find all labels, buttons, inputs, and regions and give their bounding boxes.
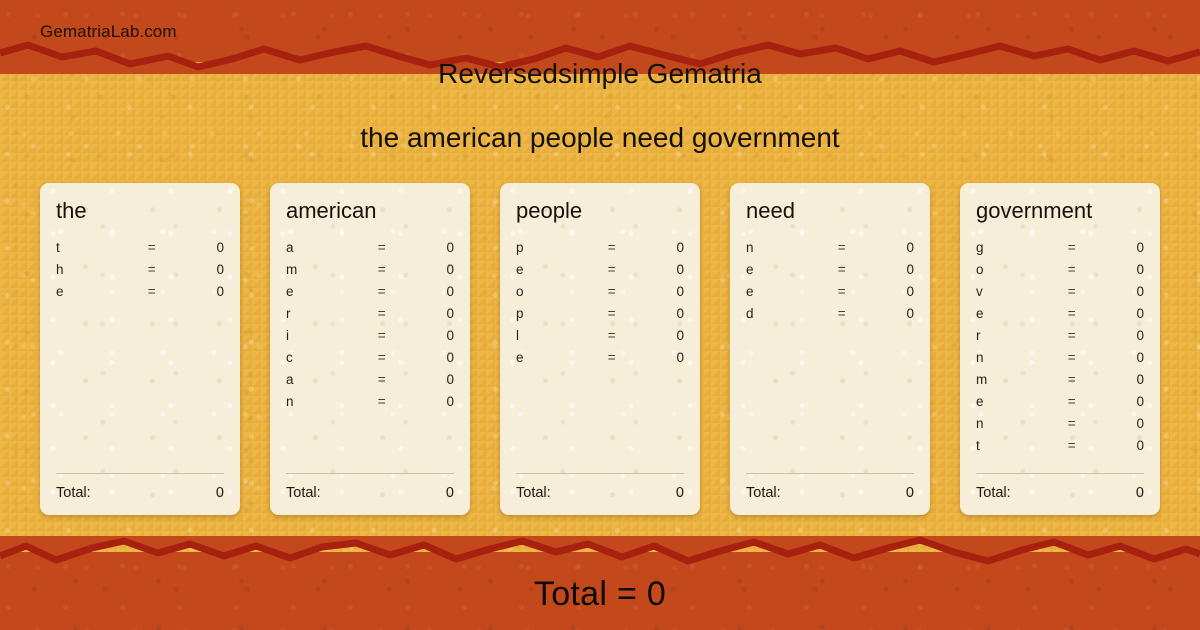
equals-sign: = <box>360 350 404 365</box>
letter-value: 0 <box>404 350 454 365</box>
letter-value: 0 <box>404 240 454 255</box>
letter-row: n = 0 <box>976 350 1144 372</box>
equals-sign: = <box>360 394 404 409</box>
letter-value: 0 <box>1094 328 1144 343</box>
letter-row: a = 0 <box>286 240 454 262</box>
input-phrase: the american people need government <box>0 122 1200 154</box>
letter-value: 0 <box>634 262 684 277</box>
letter-row: o = 0 <box>976 262 1144 284</box>
equals-sign: = <box>360 306 404 321</box>
letter-value: 0 <box>634 240 684 255</box>
word-total-value: 0 <box>1136 485 1144 501</box>
letter-value: 0 <box>864 262 914 277</box>
page-title: Reversedsimple Gematria <box>0 58 1200 90</box>
letter: a <box>286 372 360 387</box>
letter-row: n = 0 <box>286 394 454 416</box>
word-total-label: Total: <box>746 485 781 501</box>
word-cards-row: the t = 0 h = 0 e = 0 <box>40 183 1160 515</box>
letter-value: 0 <box>404 394 454 409</box>
letter-value: 0 <box>174 240 224 255</box>
letter-row: l = 0 <box>516 328 684 350</box>
word-total-row: Total: 0 <box>516 485 684 501</box>
letter-value: 0 <box>1094 416 1144 431</box>
divider <box>746 473 914 474</box>
equals-sign: = <box>130 262 174 277</box>
letter: r <box>286 306 360 321</box>
letter: h <box>56 262 130 277</box>
letter-value: 0 <box>634 328 684 343</box>
word-card-footer: Total: 0 <box>976 473 1144 515</box>
equals-sign: = <box>1050 328 1094 343</box>
letter: p <box>516 306 590 321</box>
letter: v <box>976 284 1050 299</box>
word-total-label: Total: <box>516 485 551 501</box>
equals-sign: = <box>130 240 174 255</box>
equals-sign: = <box>590 306 634 321</box>
letter-value: 0 <box>634 350 684 365</box>
letter-value: 0 <box>174 284 224 299</box>
word-card-title: people <box>516 199 684 223</box>
letter: d <box>746 306 820 321</box>
letter: t <box>56 240 130 255</box>
letter: e <box>746 262 820 277</box>
letter-row: r = 0 <box>976 328 1144 350</box>
letter: o <box>976 262 1050 277</box>
equals-sign: = <box>590 350 634 365</box>
equals-sign: = <box>130 284 174 299</box>
equals-sign: = <box>1050 394 1094 409</box>
word-card: government g = 0 o = 0 v = 0 e <box>960 183 1160 515</box>
letter-row: e = 0 <box>746 284 914 306</box>
letter-row: t = 0 <box>56 240 224 262</box>
letter: n <box>286 394 360 409</box>
letter-value: 0 <box>634 306 684 321</box>
letter: g <box>976 240 1050 255</box>
word-total-row: Total: 0 <box>976 485 1144 501</box>
letter-row: h = 0 <box>56 262 224 284</box>
letter-row: e = 0 <box>516 262 684 284</box>
letter: m <box>976 372 1050 387</box>
letter-value: 0 <box>634 284 684 299</box>
letter-value-list: g = 0 o = 0 v = 0 e = 0 <box>976 240 1144 473</box>
letter: n <box>976 416 1050 431</box>
letter-value: 0 <box>1094 438 1144 453</box>
word-total-label: Total: <box>286 485 321 501</box>
word-card: american a = 0 m = 0 e = 0 r <box>270 183 470 515</box>
divider <box>56 473 224 474</box>
equals-sign: = <box>1050 438 1094 453</box>
word-card: people p = 0 e = 0 o = 0 p <box>500 183 700 515</box>
word-card-title: need <box>746 199 914 223</box>
letter-value: 0 <box>404 262 454 277</box>
letter-row: n = 0 <box>976 416 1144 438</box>
letter-row: p = 0 <box>516 240 684 262</box>
equals-sign: = <box>820 284 864 299</box>
letter-row: t = 0 <box>976 438 1144 460</box>
equals-sign: = <box>590 240 634 255</box>
letter: e <box>56 284 130 299</box>
letter-value: 0 <box>864 284 914 299</box>
letter-value: 0 <box>404 328 454 343</box>
word-card-footer: Total: 0 <box>56 473 224 515</box>
word-card-title: the <box>56 199 224 223</box>
letter-value: 0 <box>174 262 224 277</box>
equals-sign: = <box>820 306 864 321</box>
word-total-label: Total: <box>976 485 1011 501</box>
letter: t <box>976 438 1050 453</box>
equals-sign: = <box>360 262 404 277</box>
divider <box>286 473 454 474</box>
word-card-title: government <box>976 199 1144 223</box>
word-total-value: 0 <box>216 485 224 501</box>
equals-sign: = <box>1050 284 1094 299</box>
letter-row: m = 0 <box>976 372 1144 394</box>
divider <box>516 473 684 474</box>
equals-sign: = <box>1050 306 1094 321</box>
letter: m <box>286 262 360 277</box>
equals-sign: = <box>820 240 864 255</box>
word-total-value: 0 <box>906 485 914 501</box>
word-card-footer: Total: 0 <box>746 473 914 515</box>
letter-value: 0 <box>1094 350 1144 365</box>
word-total-row: Total: 0 <box>746 485 914 501</box>
word-total-value: 0 <box>676 485 684 501</box>
letter-value-list: t = 0 h = 0 e = 0 <box>56 240 224 473</box>
letter-value-list: p = 0 e = 0 o = 0 p = 0 <box>516 240 684 473</box>
letter-value: 0 <box>1094 284 1144 299</box>
letter-row: e = 0 <box>976 394 1144 416</box>
letter-row: c = 0 <box>286 350 454 372</box>
equals-sign: = <box>1050 350 1094 365</box>
letter: e <box>516 262 590 277</box>
word-card-title: american <box>286 199 454 223</box>
letter-value: 0 <box>864 240 914 255</box>
letter: e <box>976 306 1050 321</box>
equals-sign: = <box>1050 262 1094 277</box>
letter-row: e = 0 <box>286 284 454 306</box>
letter: e <box>976 394 1050 409</box>
word-card-footer: Total: 0 <box>516 473 684 515</box>
equals-sign: = <box>590 328 634 343</box>
letter-value: 0 <box>1094 262 1144 277</box>
letter-row: e = 0 <box>56 284 224 306</box>
letter-value-list: n = 0 e = 0 e = 0 d = 0 <box>746 240 914 473</box>
letter-row: o = 0 <box>516 284 684 306</box>
divider <box>976 473 1144 474</box>
letter-row: i = 0 <box>286 328 454 350</box>
equals-sign: = <box>1050 240 1094 255</box>
equals-sign: = <box>1050 416 1094 431</box>
letter: l <box>516 328 590 343</box>
word-total-value: 0 <box>446 485 454 501</box>
letter: n <box>976 350 1050 365</box>
letter-row: p = 0 <box>516 306 684 328</box>
letter-row: g = 0 <box>976 240 1144 262</box>
letter-value: 0 <box>1094 306 1144 321</box>
equals-sign: = <box>360 328 404 343</box>
equals-sign: = <box>820 262 864 277</box>
letter: i <box>286 328 360 343</box>
letter-value: 0 <box>404 306 454 321</box>
word-card: need n = 0 e = 0 e = 0 d <box>730 183 930 515</box>
letter: o <box>516 284 590 299</box>
letter: a <box>286 240 360 255</box>
letter-value-list: a = 0 m = 0 e = 0 r = 0 <box>286 240 454 473</box>
equals-sign: = <box>360 372 404 387</box>
equals-sign: = <box>360 240 404 255</box>
word-total-row: Total: 0 <box>286 485 454 501</box>
grand-total: Total = 0 <box>0 575 1200 614</box>
letter-row: e = 0 <box>976 306 1144 328</box>
letter-row: e = 0 <box>746 262 914 284</box>
letter: n <box>746 240 820 255</box>
letter: c <box>286 350 360 365</box>
equals-sign: = <box>360 284 404 299</box>
letter-row: n = 0 <box>746 240 914 262</box>
letter-value: 0 <box>1094 372 1144 387</box>
letter: r <box>976 328 1050 343</box>
equals-sign: = <box>590 284 634 299</box>
bottom-wave-divider <box>0 536 1200 570</box>
letter-row: d = 0 <box>746 306 914 328</box>
equals-sign: = <box>1050 372 1094 387</box>
word-total-label: Total: <box>56 485 91 501</box>
letter-row: e = 0 <box>516 350 684 372</box>
letter: e <box>746 284 820 299</box>
gematria-result-canvas: GematriaLab.com Reversedsimple Gematria … <box>0 0 1200 630</box>
word-total-row: Total: 0 <box>56 485 224 501</box>
equals-sign: = <box>590 262 634 277</box>
word-card: the t = 0 h = 0 e = 0 <box>40 183 240 515</box>
letter-value: 0 <box>864 306 914 321</box>
letter-row: m = 0 <box>286 262 454 284</box>
word-card-footer: Total: 0 <box>286 473 454 515</box>
letter-row: r = 0 <box>286 306 454 328</box>
letter-row: a = 0 <box>286 372 454 394</box>
letter-row: v = 0 <box>976 284 1144 306</box>
letter: e <box>286 284 360 299</box>
site-logo[interactable]: GematriaLab.com <box>40 22 177 42</box>
letter-value: 0 <box>1094 240 1144 255</box>
letter-value: 0 <box>404 284 454 299</box>
letter: p <box>516 240 590 255</box>
letter-value: 0 <box>1094 394 1144 409</box>
letter-value: 0 <box>404 372 454 387</box>
letter: e <box>516 350 590 365</box>
